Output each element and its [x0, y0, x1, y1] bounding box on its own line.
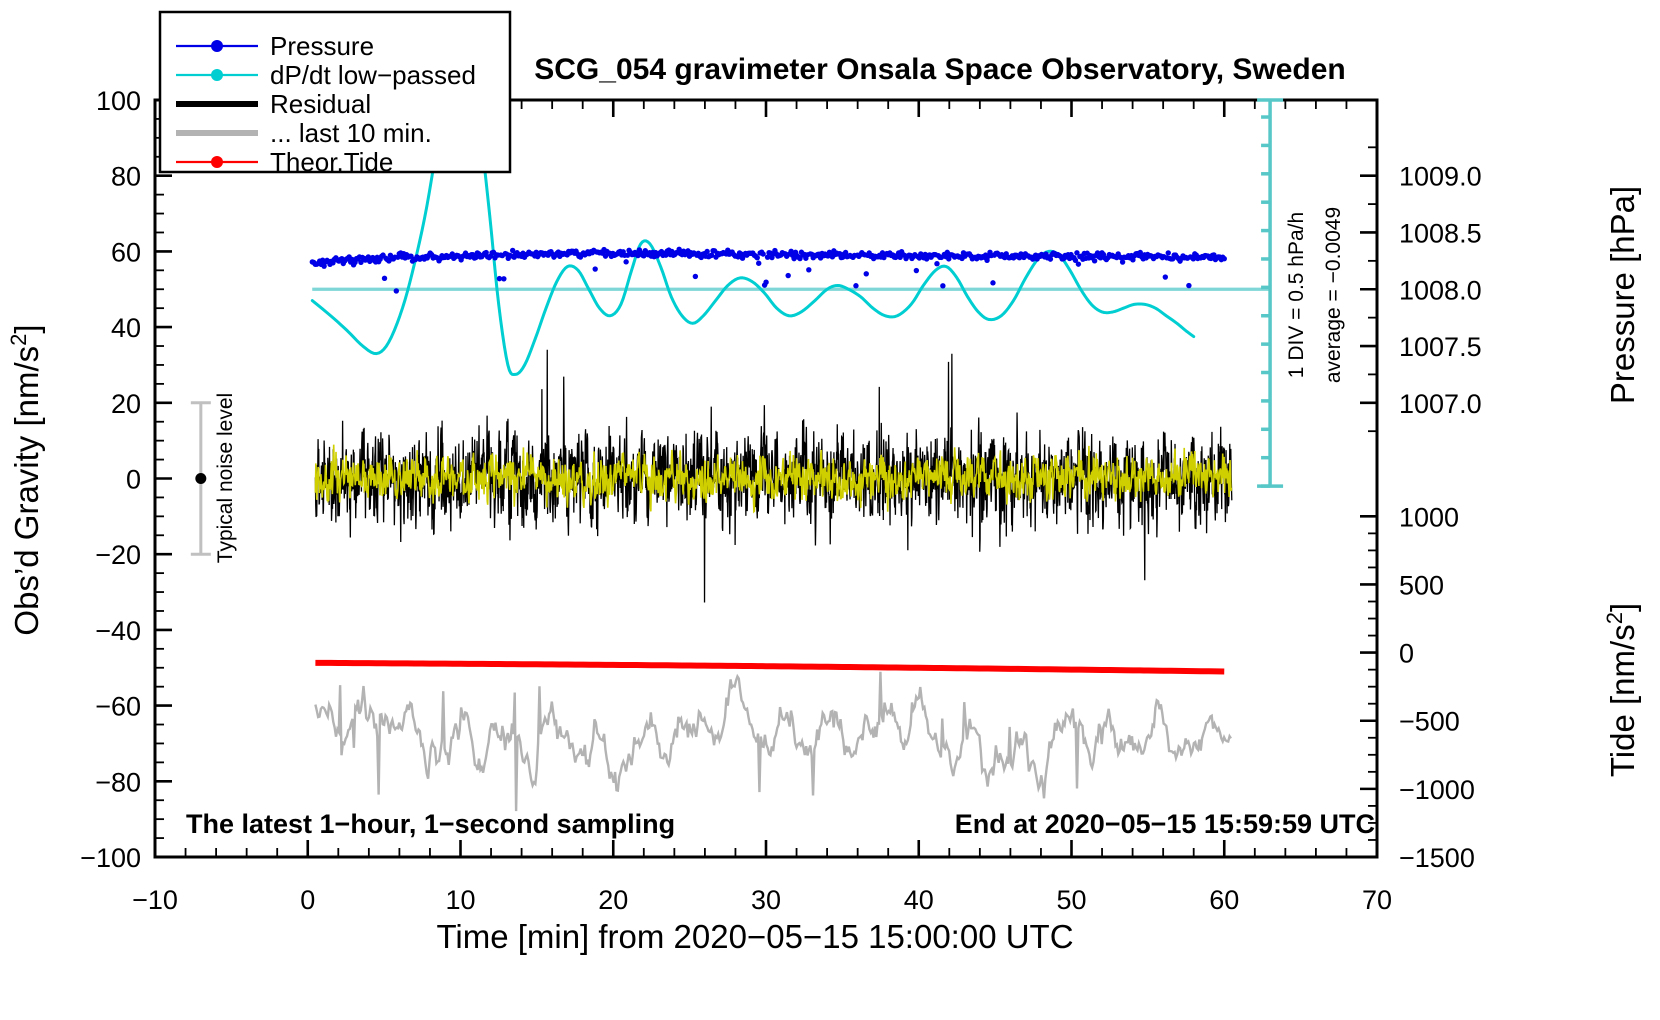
- pressure-point: [763, 280, 768, 285]
- pressure-point: [1092, 258, 1097, 263]
- y-tick-label: −60: [95, 692, 141, 722]
- pressure-point: [623, 259, 628, 264]
- legend-label: Residual: [270, 89, 371, 119]
- noise-center-dot: [195, 473, 206, 484]
- pressure-point: [760, 251, 765, 256]
- legend: PressuredP/dt low−passedResidual... last…: [160, 12, 510, 177]
- gravimeter-chart: −10010203040506070−100−80−60−40−20020406…: [0, 0, 1660, 1020]
- y-tick-label: 60: [111, 237, 141, 267]
- pressure-point: [934, 261, 939, 266]
- scalebar-average-label: average = −0.0049: [1322, 207, 1345, 383]
- pressure-point: [394, 288, 399, 293]
- pressure-point: [940, 283, 945, 288]
- pressure-point: [1186, 283, 1191, 288]
- pressure-point: [693, 274, 698, 279]
- x-tick-label: 10: [445, 885, 475, 915]
- pressure-tick-label: 1008.5: [1399, 218, 1482, 248]
- x-tick-label: −10: [132, 885, 178, 915]
- x-tick-label: 0: [300, 885, 315, 915]
- tide-tick-label: −1500: [1399, 843, 1475, 873]
- y-tick-label: 40: [111, 313, 141, 343]
- legend-marker: [211, 156, 223, 168]
- tide-tick-label: −500: [1399, 707, 1460, 737]
- tide-tick-label: −1000: [1399, 775, 1475, 805]
- annotation-bottom-left: The latest 1−hour, 1−second sampling: [186, 809, 675, 839]
- plot-canvas: −10010203040506070−100−80−60−40−20020406…: [0, 0, 1660, 1020]
- pressure-point: [756, 261, 761, 266]
- x-tick-label: 30: [751, 885, 781, 915]
- pressure-point: [592, 266, 597, 271]
- noise-level-label: Typical noise level: [214, 393, 237, 563]
- scalebar-div-label: 1 DIV = 0.5 hPa/h: [1285, 212, 1308, 378]
- legend-label: Pressure: [270, 31, 374, 61]
- x-tick-label: 20: [598, 885, 628, 915]
- pressure-tick-label: 1007.0: [1399, 389, 1482, 419]
- pressure-point: [1163, 274, 1168, 279]
- y-tick-label: 20: [111, 389, 141, 419]
- legend-marker: [211, 40, 223, 52]
- pressure-point: [755, 255, 760, 260]
- x-axis-title: Time [min] from 2020−05−15 15:00:00 UTC: [436, 918, 1073, 955]
- series-theor-tide: [315, 663, 1224, 672]
- pressure-tick-label: 1008.0: [1399, 275, 1482, 305]
- pressure-point: [1076, 261, 1081, 266]
- x-tick-label: 60: [1209, 885, 1239, 915]
- pressure-point: [1166, 250, 1171, 255]
- pressure-point: [990, 280, 995, 285]
- y-tick-label: −100: [80, 843, 141, 873]
- y-tick-label: 100: [96, 86, 141, 116]
- right-pressure-axis-title: Pressure [hPa]: [1604, 186, 1641, 404]
- pressure-point: [785, 273, 790, 278]
- pressure-point: [853, 283, 858, 288]
- x-tick-label: 70: [1362, 885, 1392, 915]
- pressure-point: [864, 271, 869, 276]
- pressure-point: [382, 276, 387, 281]
- x-tick-label: 50: [1056, 885, 1086, 915]
- y-axis-title-text: Obs’d Gravity [nm/s: [8, 346, 45, 636]
- series-pressure: [310, 247, 1227, 294]
- y-tick-label: 0: [126, 465, 141, 495]
- series-last10-gray: [315, 672, 1231, 811]
- legend-label: dP/dt low−passed: [270, 60, 476, 90]
- tide-tick-label: 1000: [1399, 502, 1459, 532]
- tide-tick-label: 0: [1399, 639, 1414, 669]
- y-tick-label: −80: [95, 767, 141, 797]
- pressure-point: [806, 267, 811, 272]
- pressure-point: [914, 268, 919, 273]
- y-tick-label: 80: [111, 162, 141, 192]
- pressure-point: [1222, 256, 1227, 261]
- pressure-point: [501, 276, 506, 281]
- pressure-point: [1120, 259, 1125, 264]
- legend-label: ... last 10 min.: [270, 118, 432, 148]
- right-tide-axis-title: Tide [nm/s2]: [1602, 603, 1641, 777]
- page-title: SCG_054 gravimeter Onsala Space Observat…: [534, 53, 1346, 86]
- annotation-bottom-right: End at 2020−05−15 15:59:59 UTC: [955, 809, 1375, 839]
- pressure-tick-label: 1009.0: [1399, 162, 1482, 192]
- y-axis-title: Obs’d Gravity [nm/s2]: [6, 324, 45, 635]
- x-tick-label: 40: [904, 885, 934, 915]
- y-tick-label: −40: [95, 616, 141, 646]
- legend-label: Theor.Tide: [270, 147, 393, 177]
- tide-tick-label: 500: [1399, 570, 1444, 600]
- legend-marker: [211, 69, 223, 81]
- pressure-tick-label: 1007.5: [1399, 332, 1482, 362]
- y-tick-label: −20: [95, 540, 141, 570]
